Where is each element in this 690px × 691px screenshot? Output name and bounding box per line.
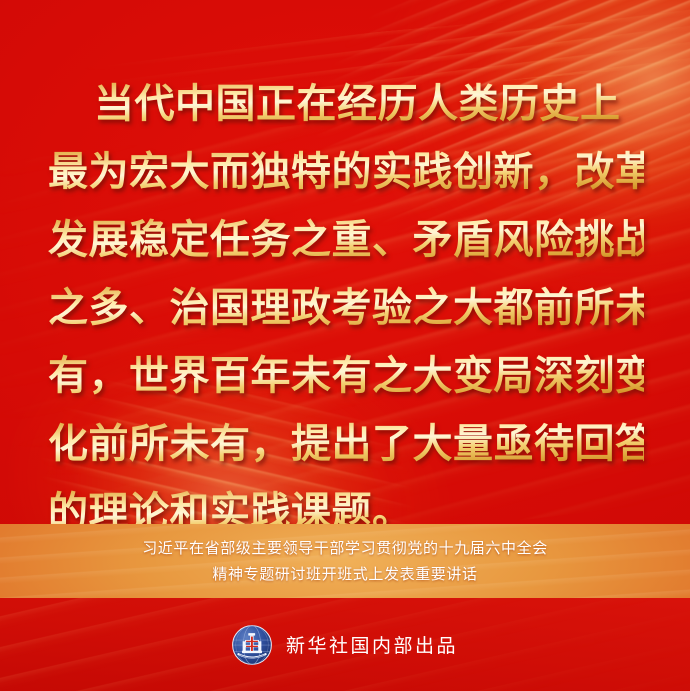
quote-line: 之多、治国理政考验之大都前所未 — [48, 274, 644, 342]
quote-line: 化前所未有，提出了大量亟待回答 — [48, 410, 644, 478]
quote-line: 发展稳定任务之重、矛盾风险挑战 — [48, 206, 644, 274]
xinhua-logo-icon — [232, 625, 272, 665]
quote-block: 当代中国正在经历人类历史上 最为宏大而独特的实践创新，改革 发展稳定任务之重、矛… — [0, 70, 690, 546]
poster-image: 当代中国正在经历人类历史上 最为宏大而独特的实践创新，改革 发展稳定任务之重、矛… — [0, 0, 690, 691]
caption-band: 习近平在省部级主要领导干部学习贯彻党的十九届六中全会 精神专题研讨班开班式上发表… — [0, 524, 690, 598]
caption-line: 习近平在省部级主要领导干部学习贯彻党的十九届六中全会 — [142, 535, 548, 561]
quote-line: 当代中国正在经历人类历史上 — [48, 70, 644, 138]
footer-credit-label: 新华社国内部出品 — [286, 631, 458, 658]
quote-line: 最为宏大而独特的实践创新，改革 — [48, 138, 644, 206]
footer-bar: 新华社国内部出品 — [0, 598, 690, 691]
footer-credit: 新华社国内部出品 — [232, 625, 458, 665]
quote-line: 有，世界百年未有之大变局深刻变 — [48, 342, 644, 410]
caption-line: 精神专题研讨班开班式上发表重要讲话 — [212, 561, 477, 587]
